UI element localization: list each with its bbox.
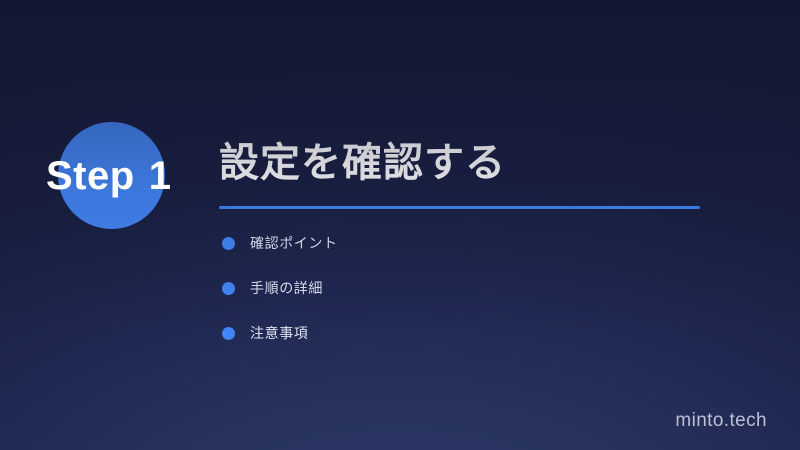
list-item: 確認ポイント: [222, 236, 338, 250]
bullet-dot-icon: [222, 282, 235, 295]
step-word-text: Step: [46, 156, 135, 196]
list-item-label: 手順の詳細: [250, 278, 323, 298]
slide-title: 設定を確認する: [219, 140, 709, 187]
presentation-slide: Step 1 設定を確認する 確認ポイント 手順の詳細 注意事項 minto.t…: [0, 0, 800, 450]
headline-block: 設定を確認する: [219, 140, 709, 209]
title-underline-rule: [219, 206, 700, 209]
bullet-dot-icon: [222, 327, 235, 340]
list-item-label: 確認ポイント: [250, 233, 338, 253]
step-label: Step 1: [46, 150, 256, 202]
bullet-list: 確認ポイント 手順の詳細 注意事項: [222, 236, 338, 340]
bullet-dot-icon: [222, 237, 235, 250]
watermark-brand: minto.tech: [675, 410, 767, 432]
step-number-text: 1: [149, 156, 172, 196]
list-item: 手順の詳細: [222, 281, 338, 295]
list-item-label: 注意事項: [250, 323, 308, 343]
list-item: 注意事項: [222, 326, 338, 340]
